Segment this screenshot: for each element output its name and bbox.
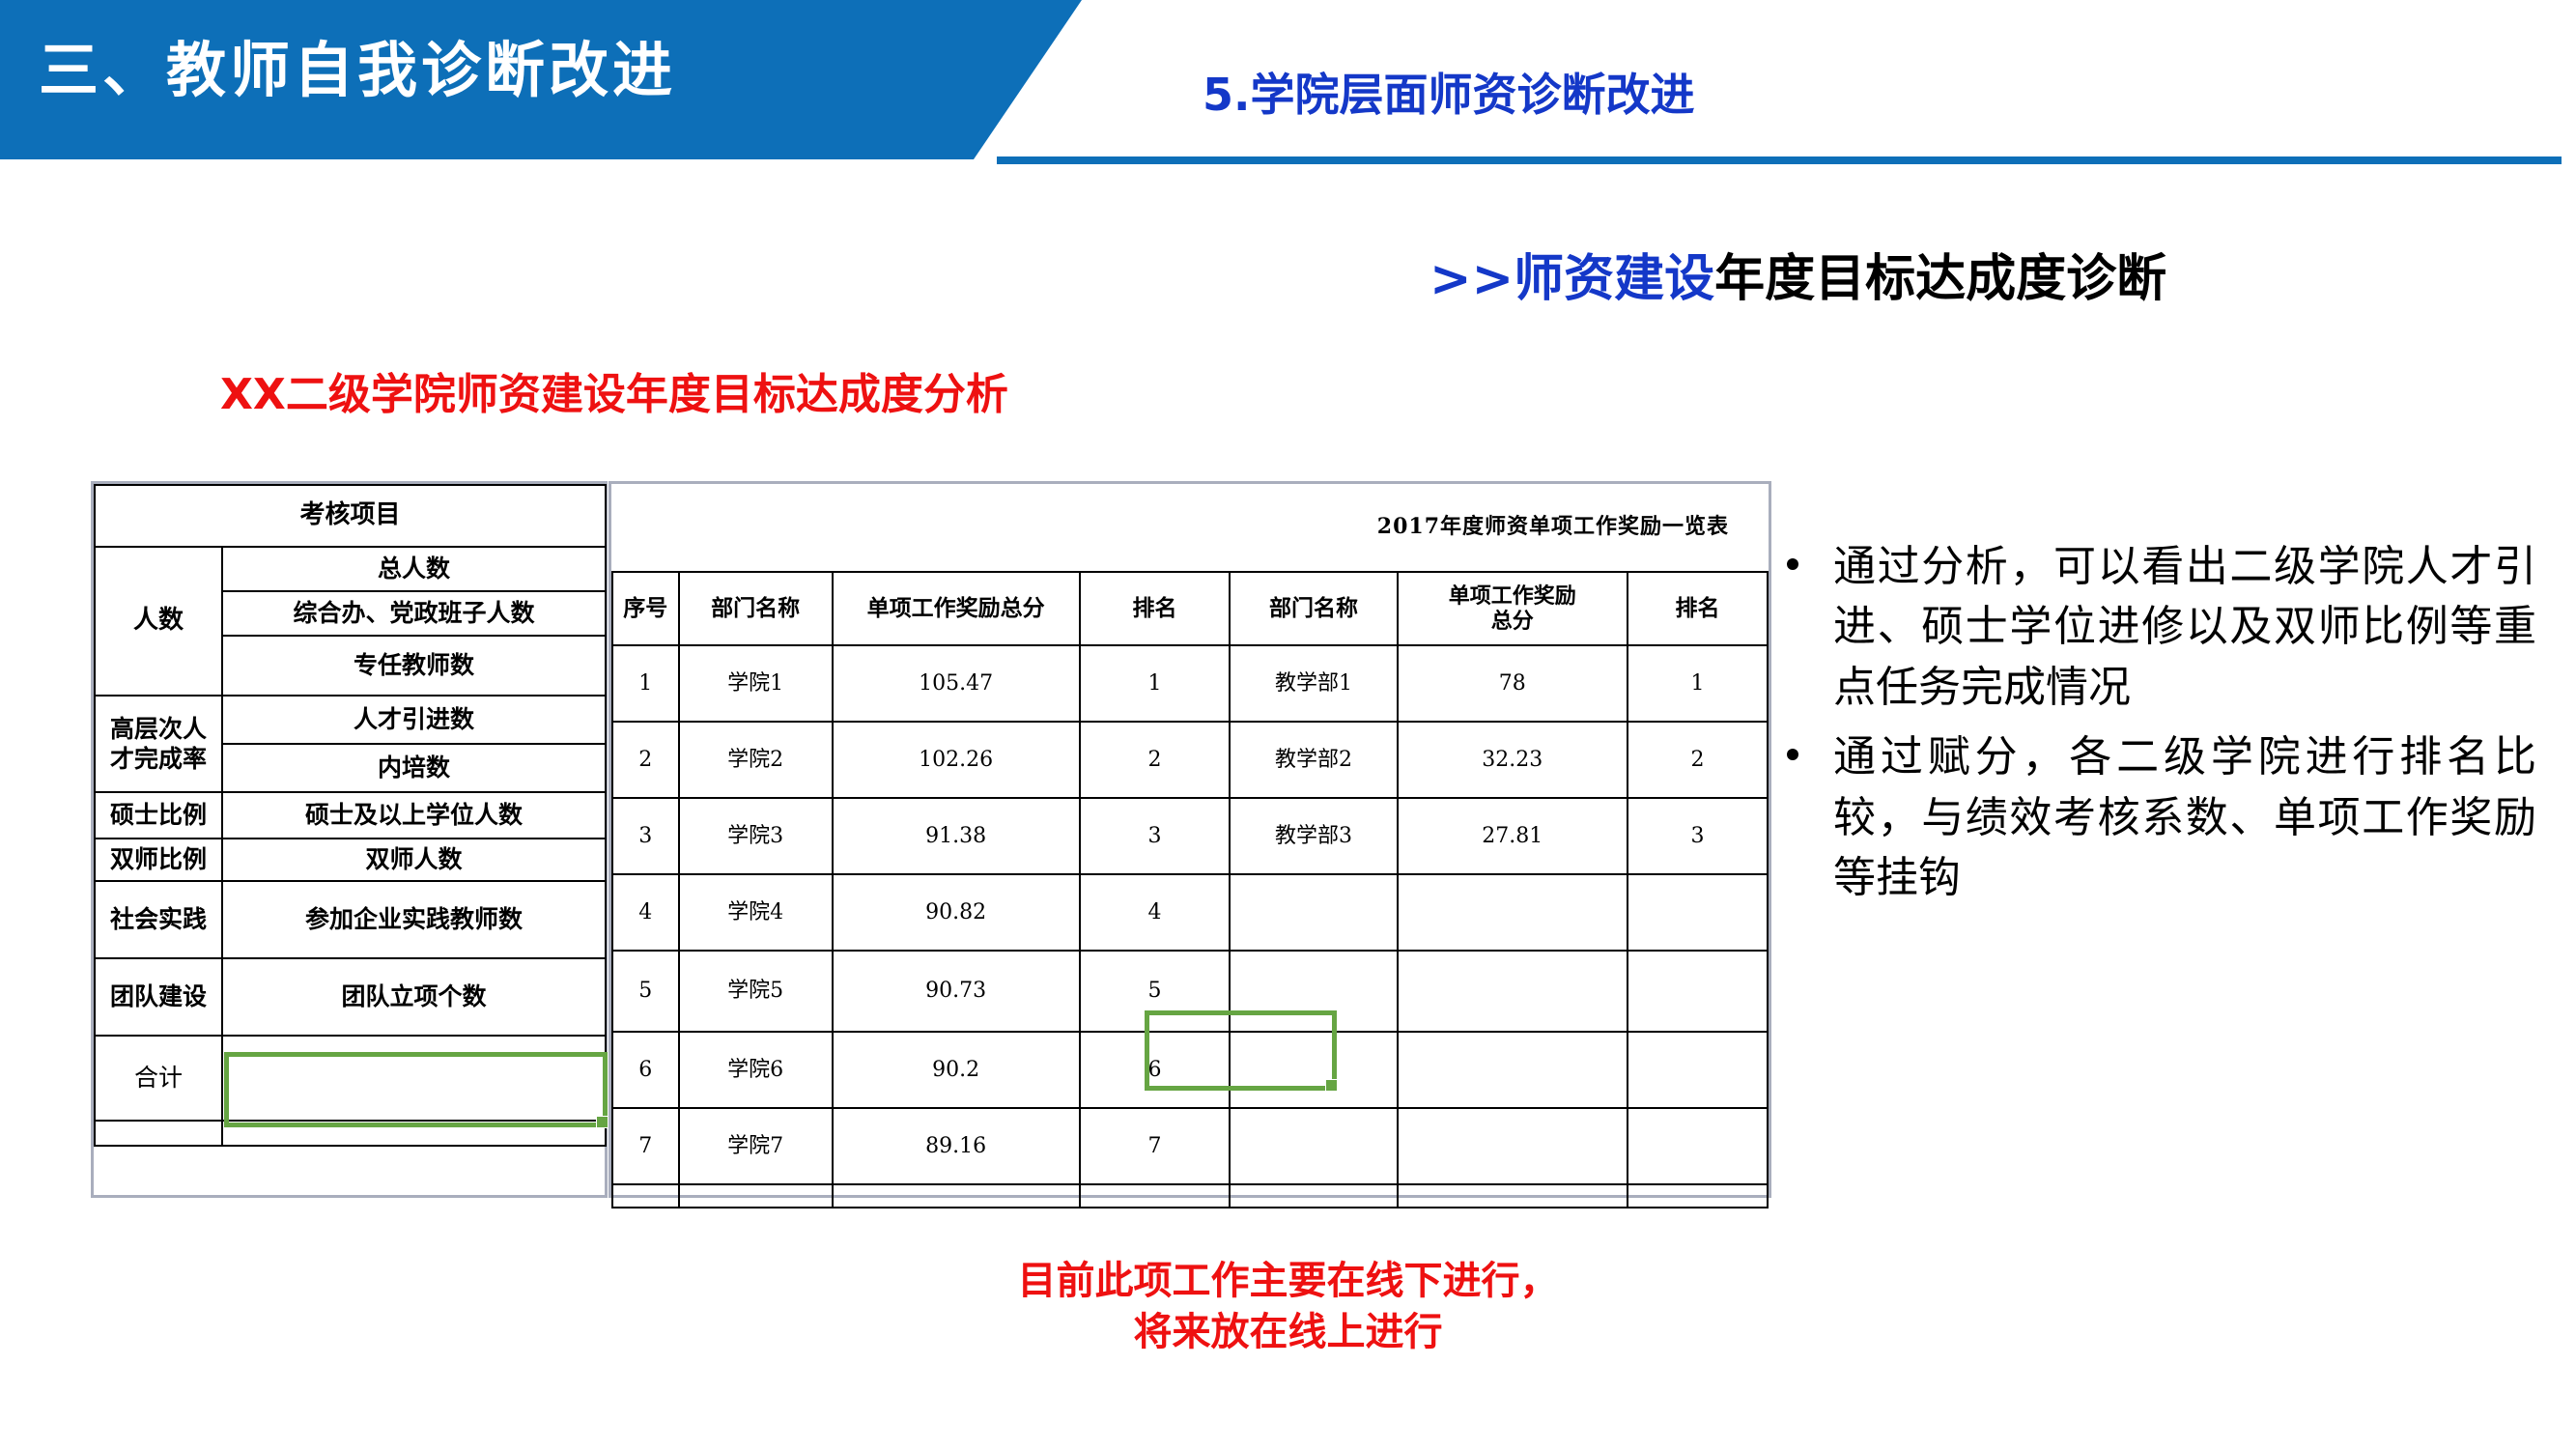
group-cell-renshu: 人数 (95, 547, 222, 696)
cell-rank-a: 4 (1080, 874, 1231, 951)
cell-score-b-selected[interactable] (1398, 951, 1628, 1032)
section-title: 5.学院层面师资诊断改进 (1203, 60, 1694, 124)
page-title: 三、教师自我诊断改进 (39, 21, 676, 108)
group-cell-shehui: 社会实践 (95, 881, 222, 958)
assessment-header-cell: 考核项目 (95, 485, 606, 547)
table-row[interactable]: 硕士比例 硕士及以上学位人数 (95, 792, 606, 839)
column-header-score-a: 单项工作奖励总分 (833, 572, 1080, 645)
assessment-items-grid: 考核项目 人数 总人数 综合办、党政班子人数 专任教师数 高层次人才完成率 人才… (94, 484, 607, 1147)
cell-no: 4 (612, 874, 679, 951)
group-cell-shuoshi: 硕士比例 (95, 792, 222, 839)
list-item: 通过分析，可以看出二级学院人才引进、硕士学位进修以及双师比例等重点任务完成情况 (1773, 537, 2536, 718)
cell-score-b (1398, 1032, 1628, 1108)
cell-score-b: 78 (1398, 645, 1628, 722)
column-header-dept-a: 部门名称 (679, 572, 833, 645)
cell-dept-b: 教学部3 (1230, 798, 1397, 874)
table-row[interactable]: 2 学院2 102.26 2 教学部2 32.23 2 (612, 722, 1768, 798)
list-item-text: 通过分析，可以看出二级学院人才引进、硕士学位进修以及双师比例等重点任务完成情况 (1833, 542, 2536, 712)
empty-cell (1628, 1184, 1768, 1208)
spreadsheet-area: 考核项目 人数 总人数 综合办、党政班子人数 专任教师数 高层次人才完成率 人才… (91, 481, 1771, 1198)
item-cell: 总人数 (222, 547, 606, 591)
column-header-score-b: 单项工作奖励总分 (1398, 572, 1628, 645)
cell-dept-a: 学院2 (679, 722, 833, 798)
table-row[interactable]: 4 学院4 90.82 4 (612, 874, 1768, 951)
cell-rank-a: 6 (1080, 1032, 1231, 1108)
table-row[interactable]: 5 学院5 90.73 5 (612, 951, 1768, 1032)
empty-cell (1398, 1184, 1628, 1208)
column-header-rank-b: 排名 (1628, 572, 1768, 645)
table-row-partial[interactable] (612, 1184, 1768, 1208)
table-row[interactable]: 7 学院7 89.16 7 (612, 1108, 1768, 1184)
table-row[interactable]: 考核项目 (95, 485, 606, 547)
cell-score-b: 32.23 (1398, 722, 1628, 798)
group-cell-shuangshi: 双师比例 (95, 839, 222, 881)
bottom-note: 目前此项工作主要在线下进行， 将来放在线上进行 (0, 1256, 2576, 1358)
table-row[interactable]: 双师比例 双师人数 (95, 839, 606, 881)
empty-cell (1230, 1184, 1397, 1208)
cell-dept-b: 教学部1 (1230, 645, 1397, 722)
assessment-items-table[interactable]: 考核项目 人数 总人数 综合办、党政班子人数 专任教师数 高层次人才完成率 人才… (91, 481, 608, 1198)
cell-dept-a: 学院6 (679, 1032, 833, 1108)
cell-rank-a: 1 (1080, 645, 1231, 722)
item-cell-empty (222, 1036, 606, 1121)
award-summary-table[interactable]: 2017年度师资单项工作奖励一览表 序号 部门名称 单项工作奖励总分 排名 部门… (609, 481, 1771, 1198)
item-cell: 人才引进数 (222, 696, 606, 744)
subtitle-black-part: 年度目标达成度诊断 (1714, 250, 2166, 308)
item-cell: 专任教师数 (222, 636, 606, 696)
item-cell: 团队立项个数 (222, 958, 606, 1036)
column-header-dept-b: 部门名称 (1230, 572, 1397, 645)
cell-score-a: 102.26 (833, 722, 1080, 798)
cell-no: 7 (612, 1108, 679, 1184)
cell-dept-b (1230, 1032, 1397, 1108)
empty-cell (222, 1121, 606, 1146)
cell-no: 6 (612, 1032, 679, 1108)
empty-cell (1080, 1184, 1231, 1208)
cell-score-a: 105.47 (833, 645, 1080, 722)
cell-rank-b (1628, 1032, 1768, 1108)
cell-rank-b: 2 (1628, 722, 1768, 798)
item-cell: 综合办、党政班子人数 (222, 591, 606, 636)
cell-rank-b (1628, 874, 1768, 951)
table-row[interactable]: 高层次人才完成率 人才引进数 (95, 696, 606, 744)
group-label-line1: 高层次人 (110, 715, 207, 743)
group-cell-heji: 合计 (95, 1036, 222, 1121)
cell-no: 1 (612, 645, 679, 722)
subtitle-blue-part: 师资建设 (1514, 250, 1714, 308)
group-cell-gaocengci: 高层次人才完成率 (95, 696, 222, 792)
cell-dept-b (1230, 1108, 1397, 1184)
table-row[interactable]: 3 学院3 91.38 3 教学部3 27.81 3 (612, 798, 1768, 874)
table-row[interactable]: 团队建设 团队立项个数 (95, 958, 606, 1036)
cell-dept-a: 学院3 (679, 798, 833, 874)
column-header-no: 序号 (612, 572, 679, 645)
bullet-dot-icon (1787, 558, 1798, 570)
cell-score-b (1398, 1108, 1628, 1184)
cell-dept-a: 学院7 (679, 1108, 833, 1184)
list-item: 通过赋分，各二级学院进行排名比较，与绩效考核系数、单项工作奖励等挂钩 (1773, 727, 2536, 908)
table-row[interactable]: 1 学院1 105.47 1 教学部1 78 1 (612, 645, 1768, 722)
award-table-title: 2017年度师资单项工作奖励一览表 (612, 484, 1768, 572)
cell-dept-a: 学院4 (679, 874, 833, 951)
table-row[interactable]: 人数 总人数 (95, 547, 606, 591)
bottom-note-line1: 目前此项工作主要在线下进行， (0, 1256, 2576, 1307)
group-label-line2: 才完成率 (110, 745, 207, 773)
cell-rank-b (1628, 951, 1768, 1032)
subtitle-marker: >> (1430, 250, 1514, 308)
table-row-partial[interactable] (95, 1121, 606, 1146)
empty-cell (612, 1184, 679, 1208)
cell-no: 2 (612, 722, 679, 798)
cell-score-a: 90.2 (833, 1032, 1080, 1108)
award-summary-grid: 2017年度师资单项工作奖励一览表 序号 部门名称 单项工作奖励总分 排名 部门… (611, 484, 1769, 1208)
cell-rank-b: 1 (1628, 645, 1768, 722)
empty-cell (833, 1184, 1080, 1208)
column-header-score-b-line2: 总分 (1491, 609, 1534, 634)
list-item-text: 通过赋分，各二级学院进行排名比较，与绩效考核系数、单项工作奖励等挂钩 (1833, 732, 2536, 902)
cell-no: 5 (612, 951, 679, 1032)
column-header-rank-a: 排名 (1080, 572, 1231, 645)
table-row[interactable]: 6 学院6 90.2 6 (612, 1032, 1768, 1108)
cell-score-a: 91.38 (833, 798, 1080, 874)
subtitle: >>师资建设年度目标达成度诊断 (1430, 238, 2166, 310)
table-row[interactable]: 2017年度师资单项工作奖励一览表 (612, 484, 1768, 572)
cell-rank-a: 3 (1080, 798, 1231, 874)
cell-dept-b: 教学部2 (1230, 722, 1397, 798)
cell-score-b: 27.81 (1398, 798, 1628, 874)
cell-dept-a: 学院5 (679, 951, 833, 1032)
table-row[interactable]: 合计 (95, 1036, 606, 1121)
analysis-heading: XX二级学院师资建设年度目标达成度分析 (220, 359, 1008, 421)
cell-score-a: 90.82 (833, 874, 1080, 951)
cell-no: 3 (612, 798, 679, 874)
header-divider-rule (997, 156, 2562, 164)
item-cell-selected[interactable]: 参加企业实践教师数 (222, 881, 606, 958)
cell-dept-a: 学院1 (679, 645, 833, 722)
cell-dept-b (1230, 874, 1397, 951)
item-cell: 内培数 (222, 744, 606, 792)
bottom-note-line2: 将来放在线上进行 (0, 1307, 2576, 1358)
insights-list: 通过分析，可以看出二级学院人才引进、硕士学位进修以及双师比例等重点任务完成情况 … (1773, 537, 2536, 919)
cell-score-b (1398, 874, 1628, 951)
cell-rank-a: 7 (1080, 1108, 1231, 1184)
cell-rank-a: 5 (1080, 951, 1231, 1032)
empty-cell (95, 1121, 222, 1146)
cell-dept-b (1230, 951, 1397, 1032)
cell-score-a: 89.16 (833, 1108, 1080, 1184)
empty-cell (679, 1184, 833, 1208)
table-row[interactable]: 社会实践 参加企业实践教师数 (95, 881, 606, 958)
table-header-row[interactable]: 序号 部门名称 单项工作奖励总分 排名 部门名称 单项工作奖励总分 排名 (612, 572, 1768, 645)
group-cell-tuandui: 团队建设 (95, 958, 222, 1036)
cell-rank-b (1628, 1108, 1768, 1184)
bullet-dot-icon (1787, 749, 1798, 760)
column-header-score-b-line1: 单项工作奖励 (1449, 583, 1576, 609)
cell-rank-b: 3 (1628, 798, 1768, 874)
item-cell: 硕士及以上学位人数 (222, 792, 606, 839)
cell-rank-a: 2 (1080, 722, 1231, 798)
cell-score-a: 90.73 (833, 951, 1080, 1032)
item-cell: 双师人数 (222, 839, 606, 881)
